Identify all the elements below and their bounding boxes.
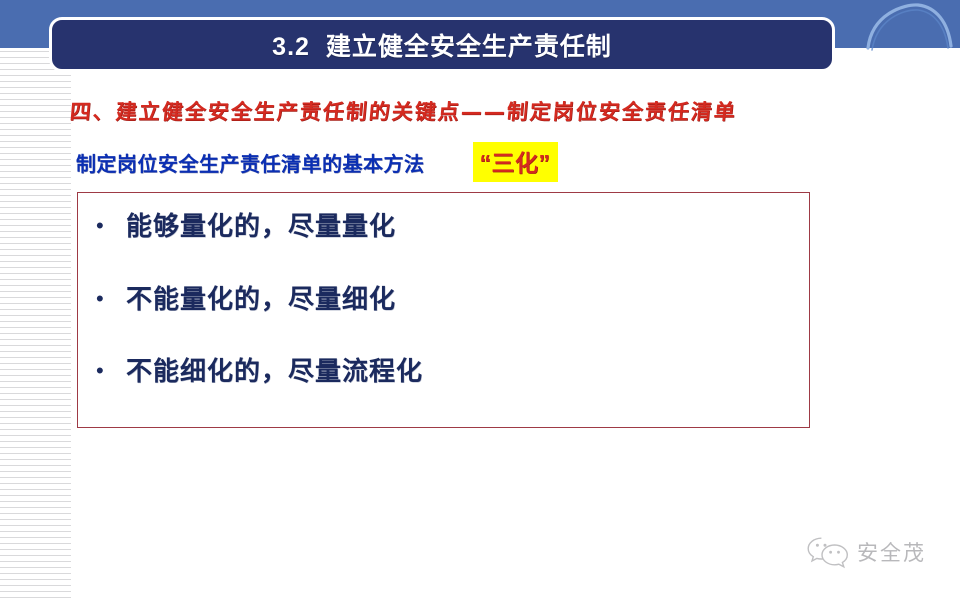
bullet-marker-icon: • [92, 354, 126, 388]
left-stripe-edge [71, 48, 72, 601]
arc-decoration-icon [866, 2, 954, 54]
watermark: 安全茂 [806, 534, 926, 570]
left-stripe-pattern [0, 48, 72, 601]
bullet-marker-icon: • [92, 209, 126, 243]
subtitle-text: 制定岗位安全生产责任清单的基本方法 [76, 148, 425, 177]
section-heading-red: 四、建立健全安全生产责任制的关键点——制定岗位安全责任清单 [69, 96, 872, 126]
content-box: • 能够量化的，尽量量化 • 不能量化的，尽量细化 • 不能细化的，尽量流程化 [77, 192, 810, 428]
list-item: • 不能量化的，尽量细化 [78, 282, 809, 355]
list-item: • 能够量化的，尽量量化 [78, 209, 809, 282]
subtitle-row: 制定岗位安全生产责任清单的基本方法 “三化” [76, 142, 558, 182]
bullet-text: 不能量化的，尽量细化 [126, 282, 396, 316]
subtitle-highlight-badge: “三化” [473, 142, 558, 182]
bullet-marker-icon: • [92, 282, 126, 316]
bullet-text: 能够量化的，尽量量化 [126, 209, 396, 243]
slide-canvas: 3.2 建立健全安全生产责任制 四、建立健全安全生产责任制的关键点——制定岗位安… [0, 0, 960, 601]
wechat-icon [806, 534, 850, 570]
bullet-text: 不能细化的，尽量流程化 [126, 354, 423, 388]
slide-title-bar: 3.2 建立健全安全生产责任制 [49, 17, 835, 72]
page-title: 3.2 建立健全安全生产责任制 [272, 27, 612, 63]
watermark-label: 安全茂 [857, 537, 926, 567]
list-item: • 不能细化的，尽量流程化 [78, 354, 809, 427]
bullet-list: • 能够量化的，尽量量化 • 不能量化的，尽量细化 • 不能细化的，尽量流程化 [78, 193, 809, 427]
